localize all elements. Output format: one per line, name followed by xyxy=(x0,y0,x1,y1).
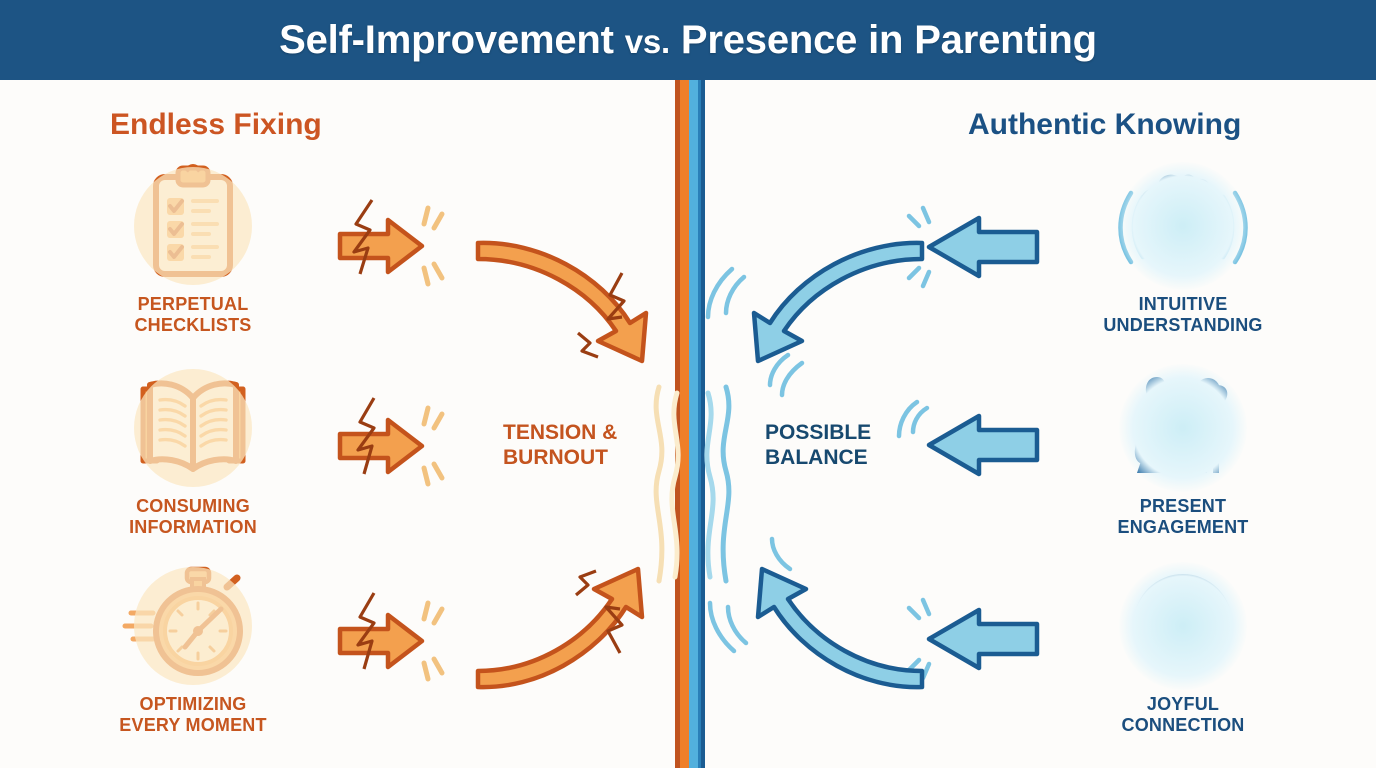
warm-halo xyxy=(134,369,252,487)
infographic-canvas: Self-Improvement vs. Presence in Parenti… xyxy=(0,0,1376,768)
left-item-consuming-information: CONSUMING INFORMATION xyxy=(68,365,318,538)
right-item-present-engagement: PRESENT ENGAGEMENT xyxy=(1058,365,1308,538)
right-item-joyful-connection: JOYFUL CONNECTION xyxy=(1058,563,1308,736)
right-item-caption: INTUITIVE UNDERSTANDING xyxy=(1058,294,1308,336)
left-column-heading: Endless Fixing xyxy=(110,108,322,142)
left-straight-arrow-2 xyxy=(330,390,510,510)
anatomical-heart-icon xyxy=(1113,163,1253,288)
right-item-caption: JOYFUL CONNECTION xyxy=(1058,694,1308,736)
stopwatch-icon xyxy=(123,563,263,688)
title-part-1: Self-Improvement xyxy=(279,18,614,62)
cool-halo xyxy=(1119,162,1247,290)
right-curved-arrow-top xyxy=(710,215,930,385)
smiley-face-icon xyxy=(1113,563,1253,688)
clipboard-checklist-icon xyxy=(123,163,263,288)
left-item-optimizing-every-moment: OPTIMIZING EVERY MOMENT xyxy=(68,563,318,736)
right-column-heading: Authentic Knowing xyxy=(968,108,1241,142)
right-curved-arrow-bottom xyxy=(710,545,930,715)
parent-child-kneeling-icon xyxy=(1113,365,1253,490)
right-item-intuitive-understanding: INTUITIVE UNDERSTANDING xyxy=(1058,163,1308,336)
right-item-caption: PRESENT ENGAGEMENT xyxy=(1058,496,1308,538)
cool-halo xyxy=(1119,562,1247,690)
page-title: Self-Improvement vs. Presence in Parenti… xyxy=(279,18,1097,63)
right-straight-arrow-2 xyxy=(905,398,1065,508)
cool-halo xyxy=(1119,364,1247,492)
open-book-icon xyxy=(123,365,263,490)
left-item-caption: PERPETUAL CHECKLISTS xyxy=(68,294,318,336)
possible-balance-label: POSSIBLE BALANCE xyxy=(765,420,871,470)
warm-halo xyxy=(134,167,252,285)
divider-stripe-light-blue xyxy=(689,80,698,768)
left-item-perpetual-checklists: PERPETUAL CHECKLISTS xyxy=(68,163,318,336)
tension-burnout-label: TENSION & BURNOUT xyxy=(503,420,617,470)
left-item-caption: OPTIMIZING EVERY MOMENT xyxy=(68,694,318,736)
title-vs: vs. xyxy=(625,23,670,60)
title-bar: Self-Improvement vs. Presence in Parenti… xyxy=(0,0,1376,80)
left-curved-arrow-top xyxy=(470,215,690,385)
left-item-caption: CONSUMING INFORMATION xyxy=(68,496,318,538)
left-curved-arrow-bottom xyxy=(470,545,690,715)
warm-halo xyxy=(134,567,252,685)
title-part-2: Presence in Parenting xyxy=(681,18,1097,62)
